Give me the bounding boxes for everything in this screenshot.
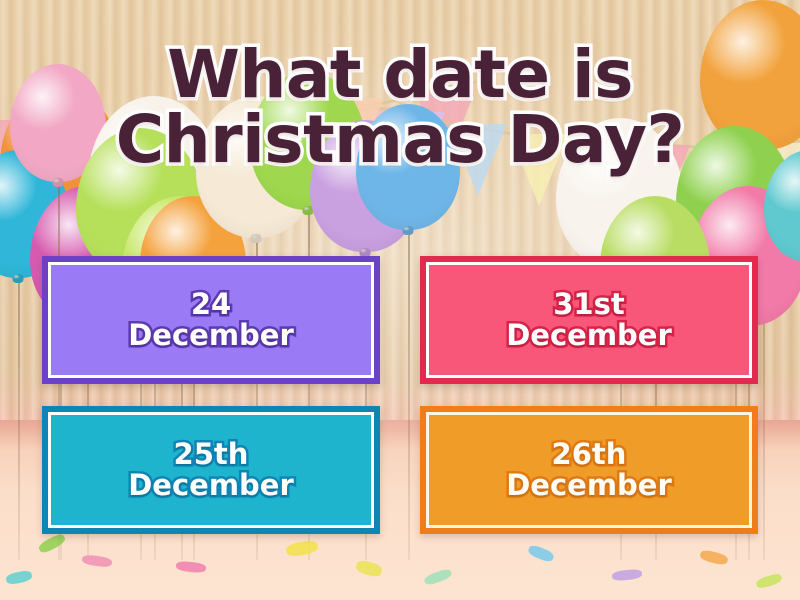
question-title: What date is Christmas Day? [0,42,800,173]
confetti-teal [5,569,33,585]
question-title-line-2: Christmas Day? [0,107,800,172]
question-title-line-1: What date is [0,42,800,107]
answer-options-grid: 24 December 31st December 25th December … [42,256,758,544]
confetti-violet [612,568,643,581]
answer-inner-frame: 31st December [426,262,752,378]
answer-option-26th-december[interactable]: 26th December [420,406,758,534]
answer-inner-frame: 24 December [48,262,374,378]
confetti-rose [176,560,207,573]
answer-option-24-december[interactable]: 24 December [42,256,380,384]
answer-inner-frame: 26th December [426,412,752,528]
answer-label: 24 December [128,289,294,350]
answer-label: 31st December [506,289,672,350]
confetti-mint [423,568,453,587]
quiz-slide: What date is Christmas Day? 24 December … [0,0,800,600]
answer-label: 25th December [128,439,294,500]
answer-option-31st-december[interactable]: 31st December [420,256,758,384]
answer-option-25th-december[interactable]: 25th December [42,406,380,534]
confetti-blue [527,544,555,564]
confetti-lemon [355,559,384,579]
answer-inner-frame: 25th December [48,412,374,528]
confetti-pink [81,554,112,568]
confetti-lime [755,572,783,590]
answer-label: 26th December [506,439,672,500]
confetti-orange [699,549,729,566]
